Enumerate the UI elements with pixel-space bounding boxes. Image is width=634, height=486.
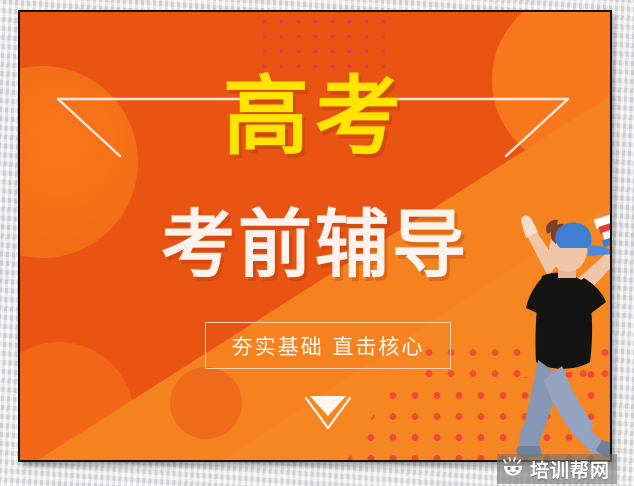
jumping-student-illustration [498, 194, 610, 460]
headline-primary: 高考 [20, 74, 610, 160]
slogan-text: 夯实基础 直击核心 [232, 331, 425, 361]
watermark: 培训帮网 [497, 454, 617, 484]
circle-decor-center-lower [170, 367, 242, 439]
page-background: 高考 考前辅导 夯实基础 直击核心 [0, 0, 634, 486]
watermark-text: 培训帮网 [530, 456, 610, 483]
slogan-box: 夯实基础 直击核心 [205, 322, 451, 369]
sun-face-icon [502, 457, 524, 482]
promo-banner: 高考 考前辅导 夯实基础 直击核心 [18, 10, 612, 462]
dot-pattern-pink [256, 14, 392, 74]
banner-canvas: 高考 考前辅导 夯实基础 直击核心 [20, 12, 610, 460]
chevron-down-icon[interactable] [302, 390, 354, 434]
